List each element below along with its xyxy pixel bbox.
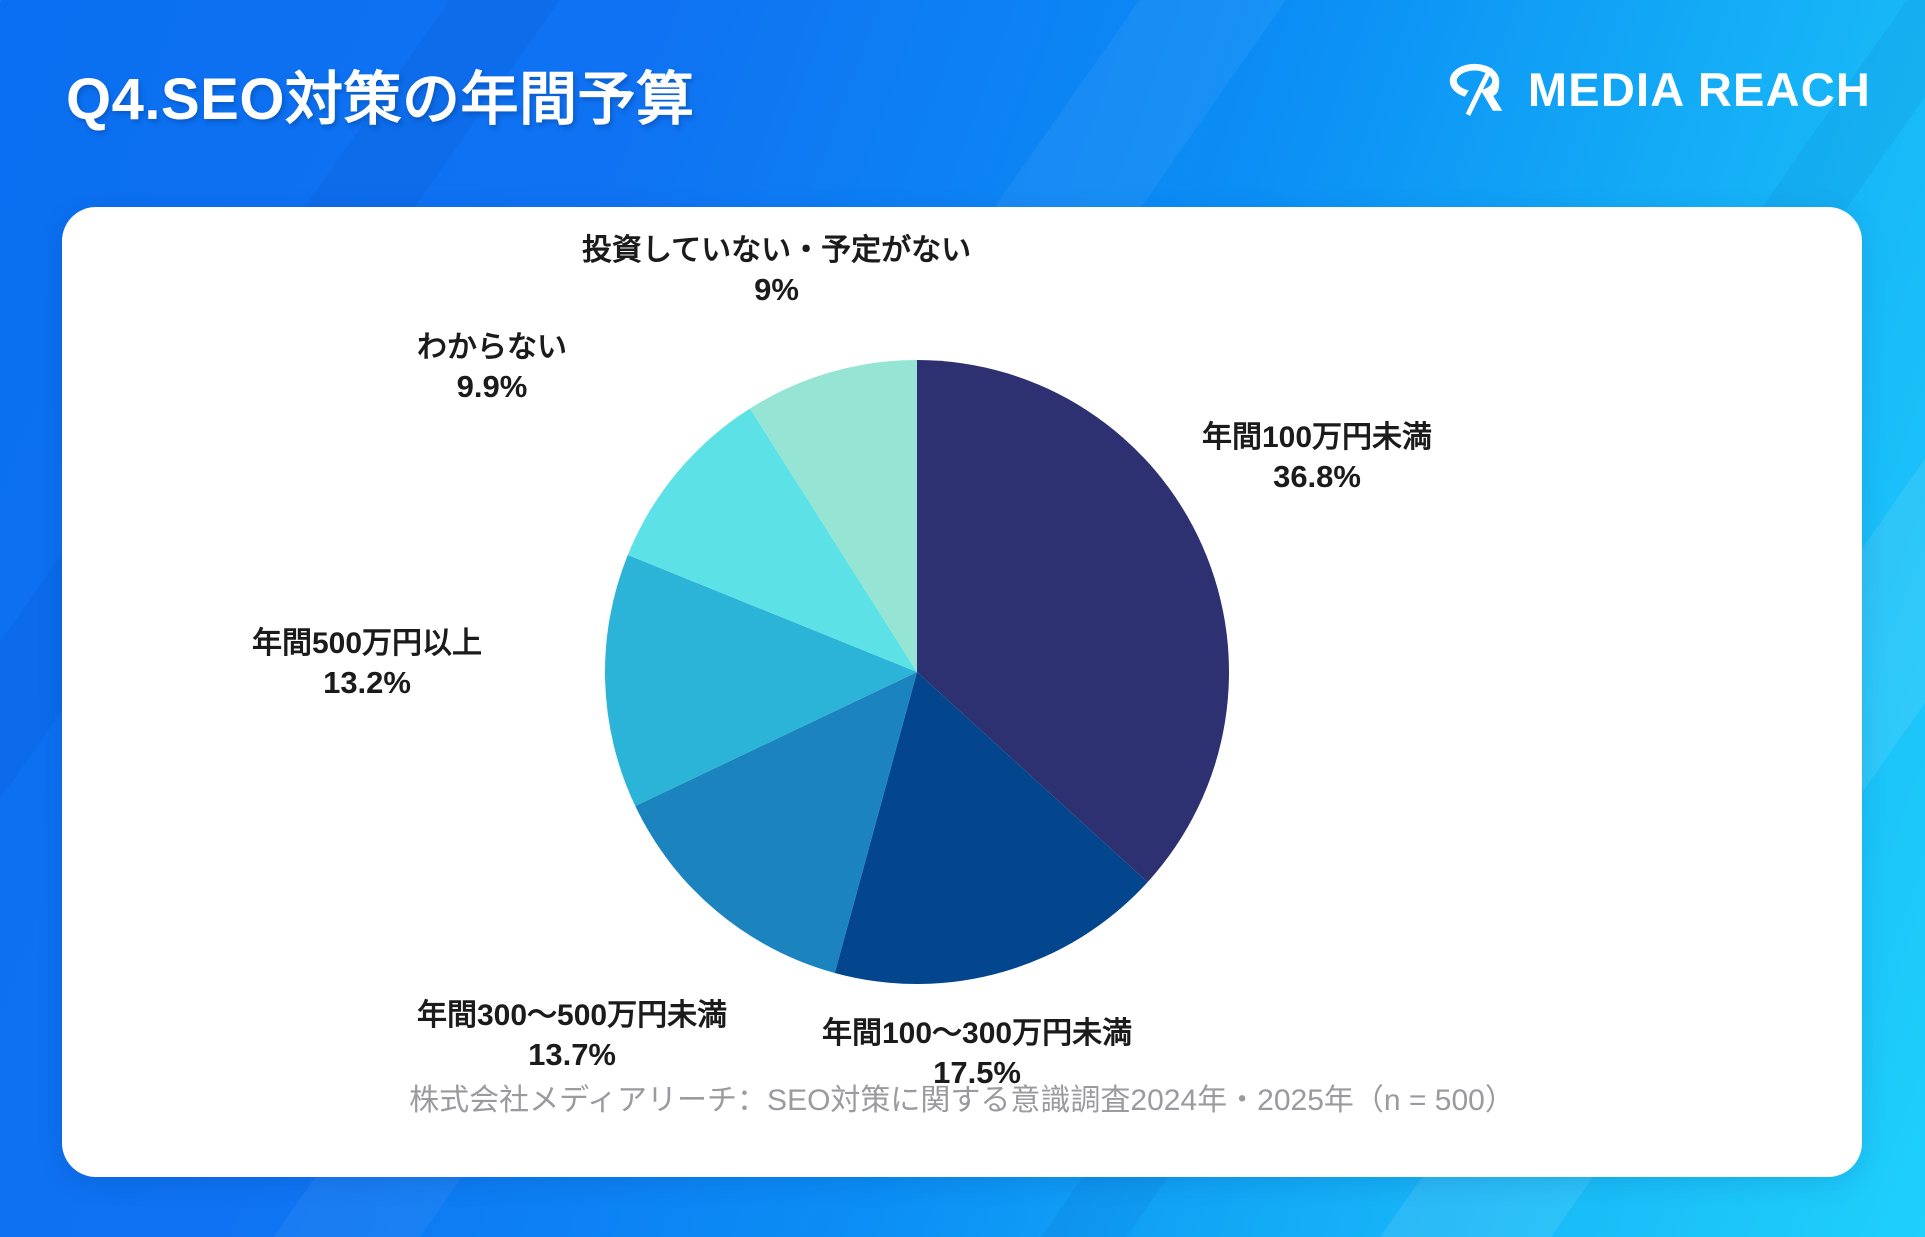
brand-lockup: MEDIA REACH: [1444, 58, 1871, 120]
brand-name: MEDIA REACH: [1528, 62, 1871, 117]
slice-label-midblue: 年間300〜500万円未満 13.7%: [417, 997, 727, 1074]
pie-chart: 年間100万円未満 36.8% 年間100〜300万円未満 17.5% 年間30…: [62, 207, 1862, 1177]
slice-label-navy: 年間100万円未満 36.8%: [1202, 419, 1432, 496]
slide-root: Q4.SEO対策の年間予算 MEDIA REACH 年間100万円未満 36.8…: [0, 0, 1925, 1237]
slice-label-value: 9%: [582, 270, 971, 309]
slice-label-text: 年間100万円未満: [1202, 419, 1432, 457]
slice-label-value: 13.7%: [417, 1035, 727, 1074]
slice-label-cyan: 年間500万円以上 13.2%: [252, 625, 482, 702]
slice-label-value: 13.2%: [252, 663, 482, 702]
page-title: Q4.SEO対策の年間予算: [66, 52, 694, 136]
slice-label-text: わからない: [417, 329, 567, 367]
pie-chart-svg: [602, 357, 1232, 987]
slice-label-value: 36.8%: [1202, 457, 1432, 496]
slice-label-text: 年間100〜300万円未満: [822, 1015, 1132, 1053]
slice-label-text: 年間500万円以上: [252, 625, 482, 663]
slice-label-text: 投資していない・予定がない: [582, 232, 971, 270]
slice-label-bright-cyan: わからない 9.9%: [417, 329, 567, 406]
slice-label-mint: 投資していない・予定がない 9%: [582, 232, 971, 309]
media-reach-logo-icon: [1444, 58, 1506, 120]
slice-label-text: 年間300〜500万円未満: [417, 997, 727, 1035]
content-card: 年間100万円未満 36.8% 年間100〜300万円未満 17.5% 年間30…: [62, 207, 1862, 1177]
slice-label-value: 9.9%: [417, 367, 567, 406]
source-footnote: 株式会社メディアリーチ：SEO対策に関する意識調査2024年・2025年（n =…: [62, 1075, 1862, 1119]
slide-header: Q4.SEO対策の年間予算 MEDIA REACH: [0, 0, 1925, 208]
